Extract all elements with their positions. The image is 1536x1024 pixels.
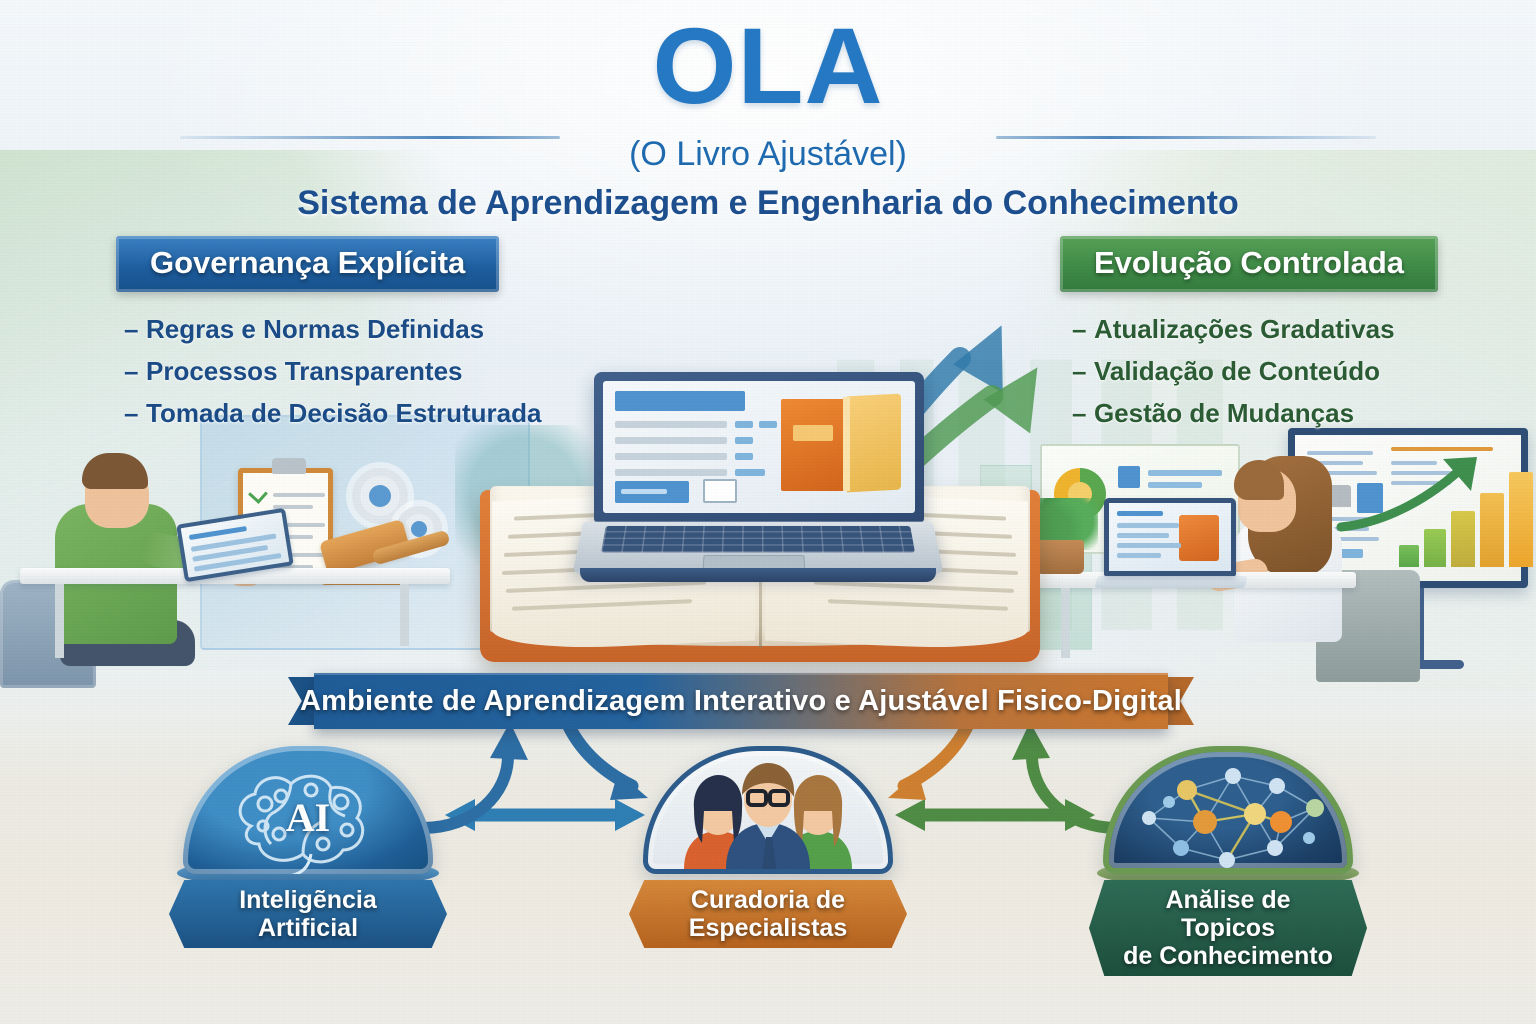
ai-badge: AI [183, 794, 433, 841]
clipboard-clip [272, 458, 306, 474]
page-subtitle: (O Livro Ajustável) [607, 135, 929, 174]
laptop-lid [594, 372, 924, 522]
ai-dome: AI [183, 746, 433, 874]
list-item: –Regras e Normas Definidas [124, 308, 541, 350]
checkmark-icon [248, 484, 268, 504]
node-label-ai: Inteligẽncia Artificial [169, 880, 447, 948]
bullet-dash: – [124, 350, 146, 392]
experts-dome [643, 746, 893, 874]
list-item: –Processos Transparentes [124, 350, 541, 392]
node-label-knowledge-line2: de Conhecimento [1123, 942, 1333, 970]
panel-evolution: Evolução Controlada –Atualizações Gradat… [1036, 236, 1438, 434]
laptop-device [1104, 498, 1236, 576]
list-item: –Tomada de Decisão Estruturada [124, 392, 541, 434]
laptop-screen [603, 381, 915, 513]
page-title: OLA [0, 12, 1536, 120]
laptop-keys [601, 526, 915, 552]
screen-primary-button [615, 481, 689, 503]
page-tagline: Sistema de Aprendizagem e Engenharia do … [0, 184, 1536, 223]
bullet-dash: – [1072, 392, 1094, 434]
node-knowledge-analysis[interactable]: Anălise de Topicos de Conhecimento [1088, 746, 1368, 976]
list-item-label: Validação de Conteúdo [1094, 356, 1380, 386]
desk-leg [1061, 588, 1070, 658]
panel-governance-heading: Governança Explícita [116, 236, 499, 292]
divider-line-right [996, 136, 1376, 139]
header: OLA (O Livro Ajustável) Sistema de Apren… [0, 0, 1536, 223]
bullet-dash: – [124, 308, 146, 350]
window-icon [703, 479, 737, 503]
network-graph-icon [1109, 752, 1353, 874]
knowledge-dome [1103, 746, 1353, 874]
node-label-knowledge-line1: Anălise de Topicos [1165, 886, 1290, 942]
panel-evolution-heading: Evolução Controlada [1060, 236, 1438, 292]
open-book-with-laptop [460, 372, 1060, 672]
person-hair [82, 453, 148, 489]
desk-leg [55, 584, 64, 658]
governance-desk-scene [0, 420, 470, 685]
bullet-dash: – [1072, 350, 1094, 392]
node-artificial-intelligence[interactable]: AI Inteligẽncia Artificial [168, 746, 448, 948]
list-item: –Gestão de Mudanças [1072, 392, 1438, 434]
list-item-label: Processos Transparentes [146, 356, 463, 386]
doc-icon [1118, 466, 1140, 488]
panel-governance: Governança Explícita –Regras e Normas De… [100, 236, 541, 434]
bullet-dash: – [124, 392, 146, 434]
growth-arrow-icon [1339, 457, 1499, 537]
laptop-keyboard-deck [572, 522, 943, 574]
orange-book-icon [781, 395, 901, 491]
desk-leg [400, 584, 409, 646]
list-item-label: Regras e Normas Definidas [146, 314, 484, 344]
list-item-label: Atualizações Gradativas [1094, 314, 1395, 344]
list-item-label: Gestão de Mudanças [1094, 398, 1354, 428]
list-item-label: Tomada de Decisão Estruturada [146, 398, 541, 428]
laptop-base [1095, 576, 1248, 588]
panel-evolution-list: –Atualizações Gradativas –Validação de C… [1072, 308, 1438, 434]
people-icon [648, 751, 888, 869]
laptop-front-lip [580, 568, 936, 582]
banner-label: Ambiente de Aprendizagem Interativo e Aj… [288, 673, 1194, 729]
list-item: –Atualizações Gradativas [1072, 308, 1438, 350]
environment-banner: Ambiente de Aprendizagem Interativo e Aj… [288, 673, 1194, 729]
orange-document-thumbnail [1179, 515, 1219, 561]
node-expert-curation[interactable]: Curadoria de Especialistas [628, 746, 908, 948]
bullet-dash: – [1072, 308, 1094, 350]
list-item: –Validação de Conteúdo [1072, 350, 1438, 392]
node-label-knowledge: Anălise de Topicos de Conhecimento [1089, 880, 1367, 976]
node-label-experts: Curadoria de Especialistas [629, 880, 907, 948]
infographic-canvas: OLA (O Livro Ajustável) Sistema de Apren… [0, 0, 1536, 1024]
panel-governance-list: –Regras e Normas Definidas –Processos Tr… [124, 308, 541, 434]
laptop-device [578, 372, 938, 582]
divider-line-left [180, 136, 560, 139]
screen-titlebar [615, 391, 745, 411]
